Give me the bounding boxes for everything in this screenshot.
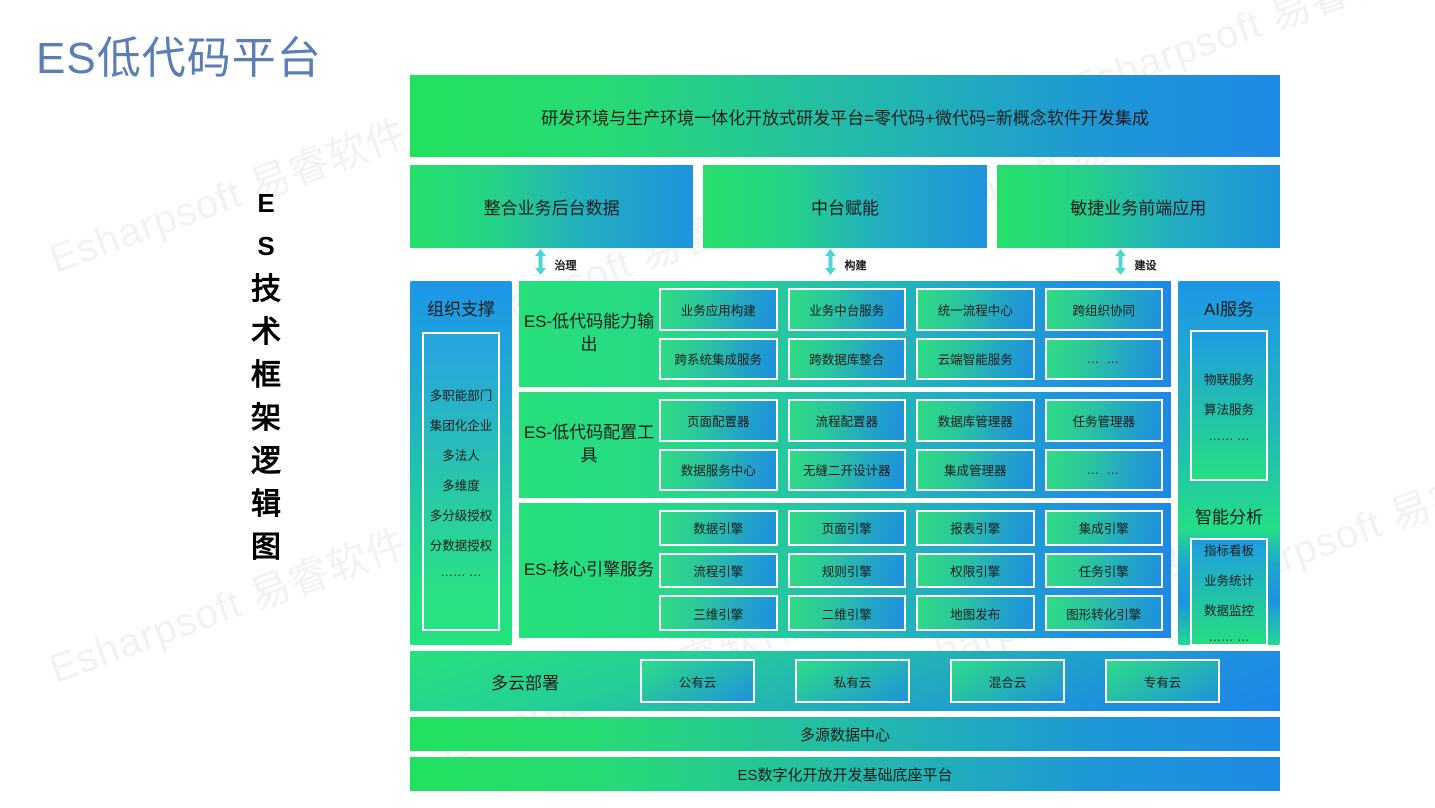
- cloud-cell[interactable]: 私有云: [795, 659, 910, 703]
- org-support-item: …… …: [441, 565, 482, 579]
- capability-cell[interactable]: 数据服务中心: [659, 449, 778, 492]
- capability-cell[interactable]: … …: [1045, 449, 1164, 492]
- org-support-item: 多维度: [442, 475, 480, 494]
- capability-cell[interactable]: 业务中台服务: [788, 288, 907, 331]
- vertical-caption-char: 逻: [243, 440, 289, 483]
- org-support-item: 多分级授权: [430, 505, 493, 524]
- capability-cell[interactable]: 跨系统集成服务: [659, 338, 778, 381]
- org-support-items: 多职能部门集团化企业多法人多维度多分级授权分数据授权…… …: [422, 332, 500, 631]
- right-column-item: 物联服务: [1204, 369, 1254, 388]
- org-support-title: 组织支撑: [427, 295, 495, 320]
- right-column-item: 算法服务: [1204, 399, 1254, 418]
- stack-grid-config-tools: 页面配置器流程配置器数据库管理器任务管理器数据服务中心无缝二开设计器集成管理器……: [659, 399, 1163, 491]
- capability-cell[interactable]: 集成管理器: [916, 449, 1035, 492]
- stack-label-core-engine: ES-核心引擎服务: [519, 510, 659, 631]
- architecture-diagram: 研发环境与生产环境一体化开放式研发平台=零代码+微代码=新概念软件开发集成 整合…: [410, 75, 1280, 791]
- capability-cell[interactable]: 数据库管理器: [916, 399, 1035, 442]
- pillar-midplatform-enable: 中台赋能: [703, 165, 986, 248]
- multicloud-title: 多云部署: [410, 669, 640, 694]
- capability-cell[interactable]: … …: [1045, 338, 1164, 381]
- capability-cell[interactable]: 无缝二开设计器: [788, 449, 907, 492]
- multicloud-items: 公有云私有云混合云专有云: [640, 659, 1280, 703]
- org-support-item: 集团化企业: [430, 415, 493, 434]
- capability-cell[interactable]: 任务引擎: [1045, 553, 1164, 589]
- capability-cell[interactable]: 统一流程中心: [916, 288, 1035, 331]
- right-column-item: 指标看板: [1204, 540, 1254, 559]
- capability-stack: ES-低代码能力输出 业务应用构建业务中台服务统一流程中心跨组织协同跨系统集成服…: [519, 281, 1171, 645]
- vertical-caption-char: E: [243, 182, 289, 225]
- capability-cell[interactable]: 权限引擎: [916, 553, 1035, 589]
- capability-cell[interactable]: 三维引擎: [659, 595, 778, 631]
- capability-cell[interactable]: 页面配置器: [659, 399, 778, 442]
- stack-grid-lowcode-output: 业务应用构建业务中台服务统一流程中心跨组织协同跨系统集成服务跨数据库整合云端智能…: [659, 288, 1163, 380]
- stack-label-config-tools: ES-低代码配置工具: [519, 399, 659, 491]
- capability-cell[interactable]: 任务管理器: [1045, 399, 1164, 442]
- pillar-agile-frontend: 敏捷业务前端应用: [997, 165, 1280, 248]
- watermark-text: Esharpsoft 易睿软件: [40, 101, 414, 285]
- capability-cell[interactable]: 地图发布: [916, 595, 1035, 631]
- capability-cell[interactable]: 数据引擎: [659, 510, 778, 546]
- capability-cell[interactable]: 集成引擎: [1045, 510, 1164, 546]
- cloud-cell[interactable]: 混合云: [950, 659, 1065, 703]
- capability-cell[interactable]: 报表引擎: [916, 510, 1035, 546]
- capability-cell[interactable]: 图形转化引擎: [1045, 595, 1164, 631]
- right-column-item: …… …: [1209, 630, 1250, 644]
- org-support-item: 多职能部门: [430, 385, 493, 404]
- org-support-item: 分数据授权: [430, 535, 493, 554]
- middle-area: 组织支撑 多职能部门集团化企业多法人多维度多分级授权分数据授权…… … ES-低…: [410, 281, 1280, 645]
- watermark-text: Esharpsoft 易睿软件: [40, 511, 414, 695]
- arrow-label-build: 构建: [845, 257, 867, 273]
- pillar-data-integration: 整合业务后台数据: [410, 165, 693, 248]
- cloud-cell[interactable]: 公有云: [640, 659, 755, 703]
- org-support-item: 多法人: [442, 445, 480, 464]
- stack-row-config-tools: ES-低代码配置工具 页面配置器流程配置器数据库管理器任务管理器数据服务中心无缝…: [519, 392, 1171, 498]
- pillar-row: 整合业务后台数据 中台赋能 敏捷业务前端应用: [410, 165, 1280, 248]
- multicloud-band: 多云部署 公有云私有云混合云专有云: [410, 651, 1280, 711]
- page-title: ES低代码平台: [36, 22, 322, 86]
- right-column-item: 数据监控: [1204, 600, 1254, 619]
- ai-service-items: 物联服务算法服务…… …: [1190, 330, 1268, 481]
- ai-analytics-column: AI服务 物联服务算法服务…… … 智能分析 指标看板业务统计数据监控…… …: [1178, 281, 1280, 645]
- foundation-band: ES数字化开放开发基础底座平台: [410, 757, 1280, 791]
- capability-cell[interactable]: 跨数据库整合: [788, 338, 907, 381]
- capability-cell[interactable]: 流程引擎: [659, 553, 778, 589]
- smart-analysis-title: 智能分析: [1195, 503, 1263, 528]
- vertical-caption-char: 技: [243, 268, 289, 311]
- stack-label-lowcode-output: ES-低代码能力输出: [519, 288, 659, 380]
- vertical-caption-char: 图: [243, 526, 289, 569]
- capability-cell[interactable]: 跨组织协同: [1045, 288, 1164, 331]
- double-arrow-vertical-icon: [1114, 249, 1127, 280]
- vertical-caption-char: 架: [243, 397, 289, 440]
- arrow-label-governance: 治理: [555, 257, 577, 273]
- smart-analysis-section: 智能分析 指标看板业务统计数据监控…… …: [1178, 493, 1280, 645]
- cloud-cell[interactable]: 专有云: [1105, 659, 1220, 703]
- stack-row-lowcode-output: ES-低代码能力输出 业务应用构建业务中台服务统一流程中心跨组织协同跨系统集成服…: [519, 281, 1171, 387]
- capability-cell[interactable]: 页面引擎: [788, 510, 907, 546]
- datacenter-band: 多源数据中心: [410, 717, 1280, 751]
- stack-row-core-engine: ES-核心引擎服务 数据引擎页面引擎报表引擎集成引擎流程引擎规则引擎权限引擎任务…: [519, 503, 1171, 638]
- ai-service-section: AI服务 物联服务算法服务…… …: [1178, 281, 1280, 493]
- vertical-caption-char: 辑: [243, 483, 289, 526]
- capability-cell[interactable]: 流程配置器: [788, 399, 907, 442]
- vertical-caption-char: 框: [243, 354, 289, 397]
- right-column-item: …… …: [1209, 429, 1250, 443]
- ai-service-title: AI服务: [1204, 295, 1254, 320]
- right-column-item: 业务统计: [1204, 570, 1254, 589]
- double-arrow-vertical-icon: [534, 249, 547, 280]
- capability-cell[interactable]: 二维引擎: [788, 595, 907, 631]
- capability-cell[interactable]: 业务应用构建: [659, 288, 778, 331]
- arrow-group-governance: 治理: [410, 249, 700, 280]
- capability-cell[interactable]: 规则引擎: [788, 553, 907, 589]
- stack-grid-core-engine: 数据引擎页面引擎报表引擎集成引擎流程引擎规则引擎权限引擎任务引擎三维引擎二维引擎…: [659, 510, 1163, 631]
- vertical-caption: ES技术框架逻辑图: [243, 182, 289, 569]
- arrow-group-build: 构建: [700, 249, 990, 280]
- headline-band: 研发环境与生产环境一体化开放式研发平台=零代码+微代码=新概念软件开发集成: [410, 75, 1280, 157]
- capability-cell[interactable]: 云端智能服务: [916, 338, 1035, 381]
- arrow-group-construction: 建设: [990, 249, 1280, 280]
- double-arrow-vertical-icon: [824, 249, 837, 280]
- arrow-label-construction: 建设: [1135, 257, 1157, 273]
- arrow-row: 治理 构建 建设: [410, 248, 1280, 281]
- vertical-caption-char: S: [243, 225, 289, 268]
- smart-analysis-items: 指标看板业务统计数据监控…… …: [1190, 538, 1268, 646]
- vertical-caption-char: 术: [243, 311, 289, 354]
- org-support-column: 组织支撑 多职能部门集团化企业多法人多维度多分级授权分数据授权…… …: [410, 281, 512, 645]
